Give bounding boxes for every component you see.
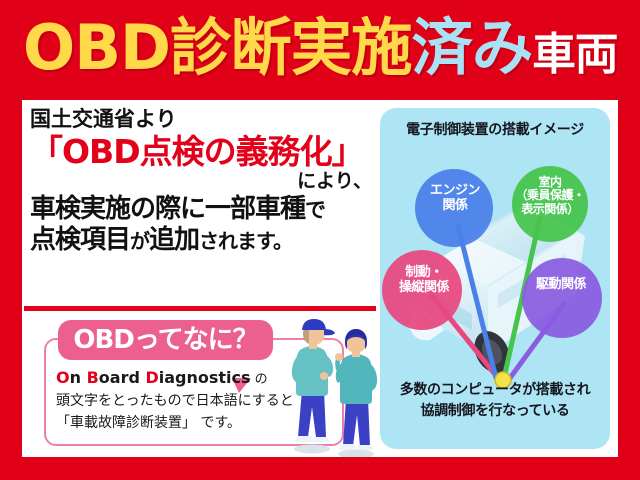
section-divider (24, 306, 376, 311)
page-title: OBD診断実施済み車両 (23, 17, 617, 79)
left-column: 国土交通省より 「OBD点検の義務化」 により、 車検実施の際に一部車種で 点検… (22, 100, 382, 457)
law-body-1a: 車検実施の際に一部車種 (30, 194, 305, 224)
people-illustration (284, 312, 389, 457)
obd-question-text: OBDってなに？ (73, 327, 257, 353)
obd-word-board: oard (99, 368, 146, 387)
diagram-title: 電子制御装置の搭載イメージ (380, 119, 610, 139)
law-body-line-1: 車検実施の際に一部車種で (30, 194, 378, 226)
law-body-2d: されます。 (199, 229, 292, 253)
law-quote: 「OBD点検の義務化」 (30, 134, 378, 170)
law-body-2b: が (130, 229, 149, 253)
obd-initial-o: O (56, 368, 70, 387)
law-body-1b: で (305, 198, 325, 222)
law-body-line-2: 点検項目が追加されます。 (30, 225, 378, 257)
law-statement-block: 国土交通省より 「OBD点検の義務化」 により、 車検実施の際に一部車種で 点検… (30, 108, 378, 257)
obd-initial-d: D (145, 368, 158, 387)
obd-line1-tail: の (251, 372, 268, 387)
obd-word-diagnostics: iagnostics (159, 368, 251, 387)
poster-root: OBD診断実施済み車両 国土交通省より 「OBD点検の義務化」 により、 車検実… (0, 0, 640, 480)
title-part-yellow: OBD診断実施 (23, 11, 412, 84)
obd-initial-b: B (87, 368, 99, 387)
title-part-white: 車両 (532, 29, 617, 80)
obd-word-on: n (70, 368, 87, 387)
node-cabin-circle (512, 166, 588, 242)
diagram-caption-line-2: 協調制御を行なっている (380, 401, 610, 422)
diagram-caption-line-1: 多数のコンピュータが搭載され (380, 380, 610, 401)
law-body-2c: 追加 (149, 225, 199, 255)
diagram-caption: 多数のコンピュータが搭載され 協調制御を行なっている (380, 380, 610, 422)
ecu-diagram-panel: 電子制御装置の搭載イメージ エンジン 関係 室内 （乗員保護・ 表示関係） 制動… (380, 108, 610, 449)
node-brake-circle (382, 250, 462, 330)
node-drive-circle (522, 258, 602, 338)
header-banner: OBD診断実施済み車両 (0, 0, 640, 95)
node-engine-circle (415, 169, 493, 247)
title-part-blue: 済み (411, 11, 532, 84)
person-with-cap-icon (292, 319, 335, 442)
content-card: 国土交通省より 「OBD点検の義務化」 により、 車検実施の際に一部車種で 点検… (22, 100, 618, 457)
law-body-2a: 点検項目 (30, 225, 130, 255)
law-connector: により、 (30, 171, 378, 192)
law-source-line: 国土交通省より (30, 108, 378, 131)
person-pointing-icon (335, 329, 377, 450)
obd-question-bubble: OBDってなに？ (58, 320, 273, 360)
